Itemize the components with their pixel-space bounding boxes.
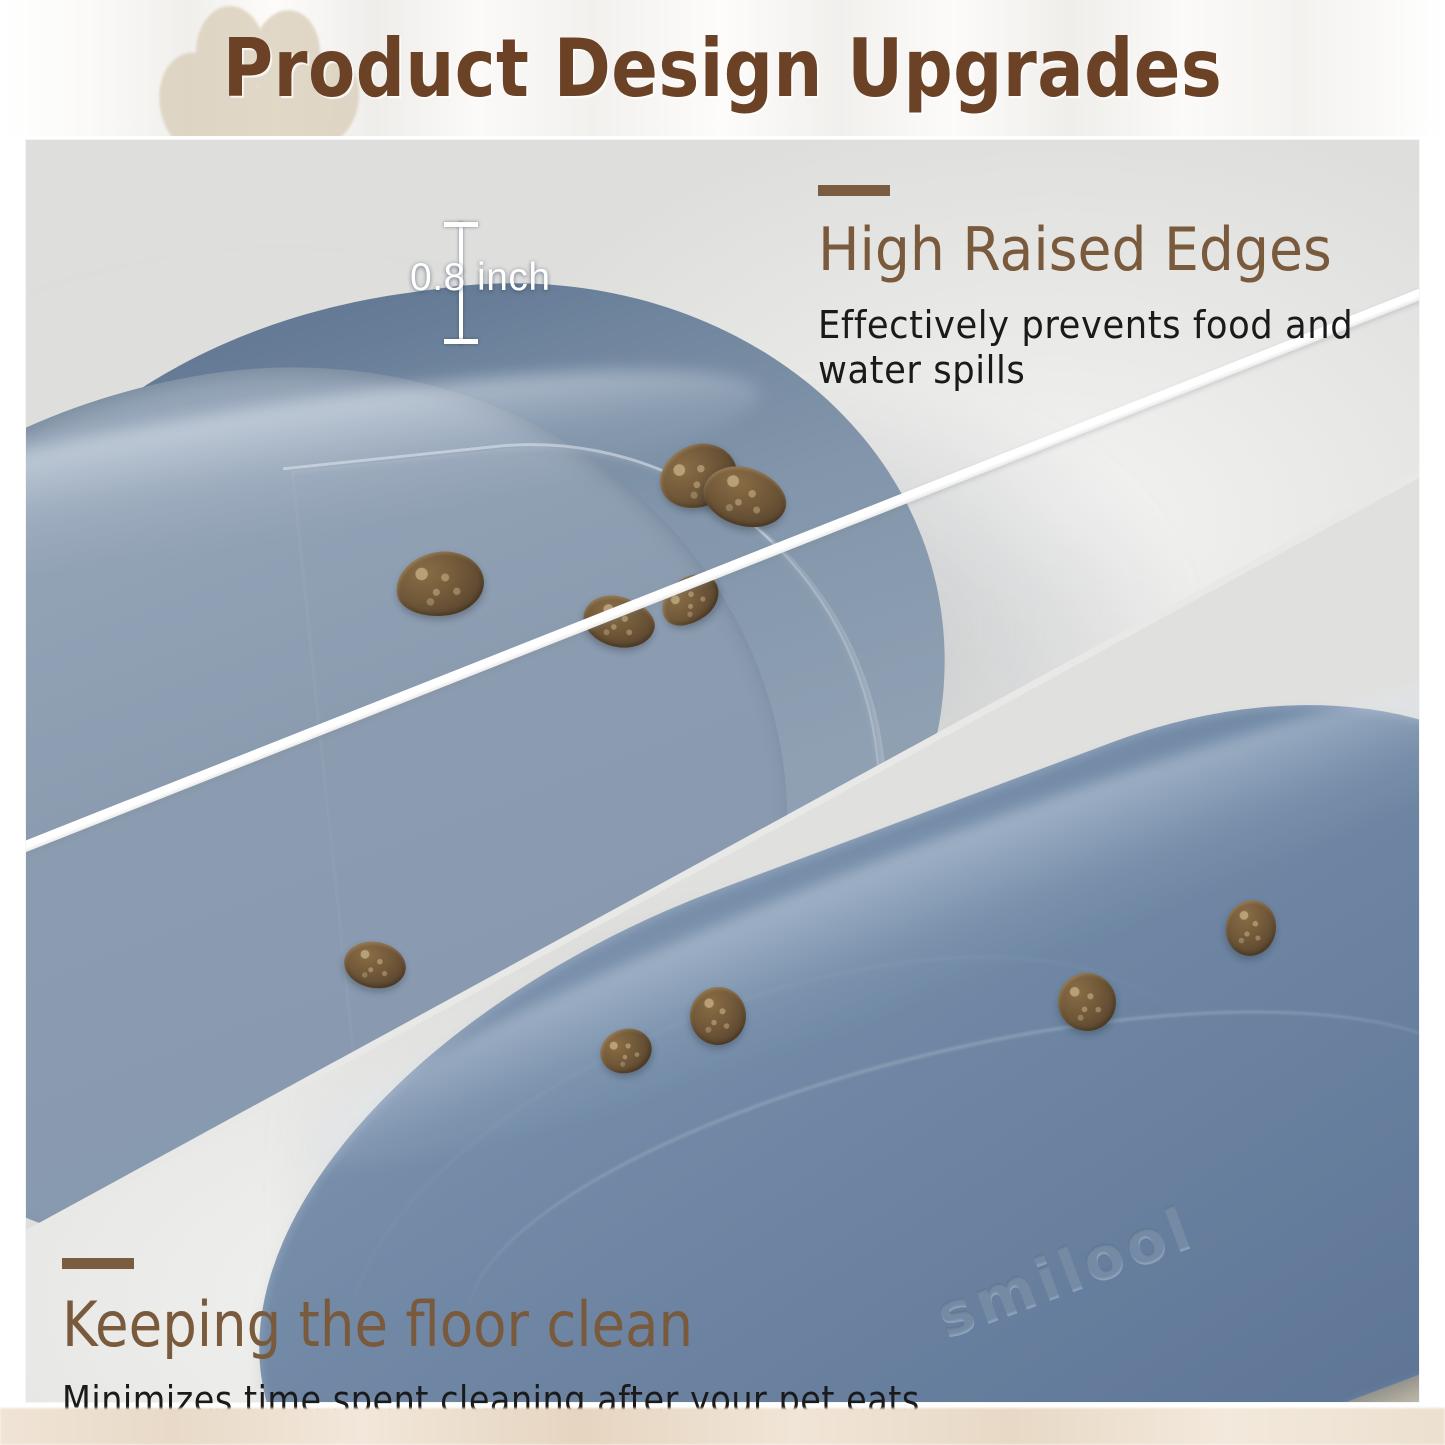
feature-title-floor-clean: Keeping the floor clean <box>62 1288 693 1361</box>
page-title: Product Design Upgrades <box>101 0 1344 136</box>
accent-dash-floor-clean <box>62 1258 134 1269</box>
dimension-label: 0.8 inch <box>410 256 551 300</box>
feature-title-raised-edges: High Raised Edges <box>818 215 1332 285</box>
header-banner: Product Design Upgrades <box>0 0 1445 136</box>
dimension-cap-top <box>444 222 478 227</box>
feature-subtitle-text: Effectively prevents food and water spil… <box>818 303 1353 392</box>
floor-strip <box>0 1408 1445 1445</box>
accent-dash-raised-edges <box>818 185 890 196</box>
product-infographic: Product Design Upgrades <box>0 0 1445 1445</box>
dimension-cap-bottom <box>444 339 478 344</box>
feature-subtitle-raised-edges: Effectively prevents food and water spil… <box>818 303 1395 393</box>
